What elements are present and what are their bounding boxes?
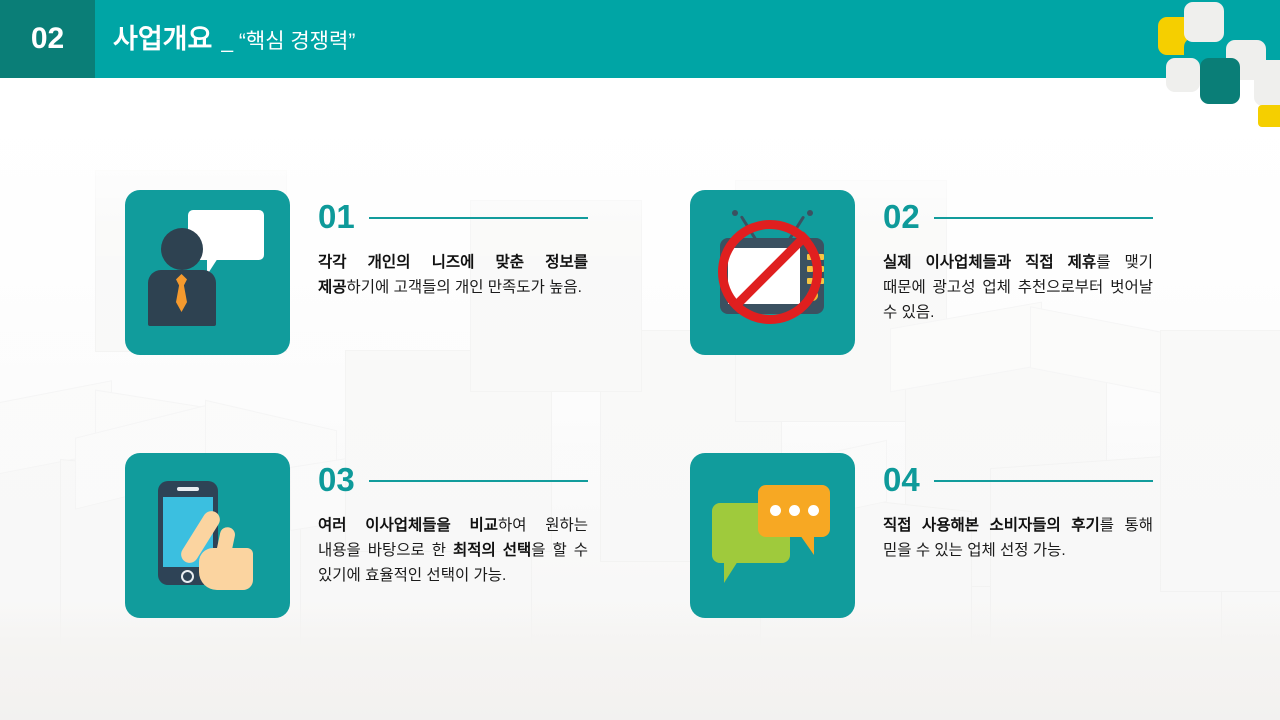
- smartphone-touch-icon: [125, 453, 290, 618]
- card-number: 02: [883, 200, 920, 233]
- card-04-text: 직접 사용해본 소비자들의 후기를 통해 믿을 수 있는 업체 선정 가능.: [883, 513, 1153, 563]
- deco-square-white-bottomright: [1254, 60, 1280, 106]
- card-number-rule: [369, 217, 588, 219]
- header-section-number: 02: [0, 0, 95, 78]
- card-02-number-row: 02: [883, 198, 1153, 234]
- card-02-body: 02 실제 이사업체들과 직접 제휴를 맺기 때문에 광고성 업체 추천으로부터…: [883, 198, 1153, 325]
- card-02-text: 실제 이사업체들과 직접 제휴를 맺기 때문에 광고성 업체 추천으로부터 벗어…: [883, 250, 1153, 325]
- card-03-body: 03 여러 이사업체들을 비교하여 원하는 내용을 바탕으로 한 최적의 선택을…: [318, 461, 588, 588]
- corner-decoration: [1150, 0, 1280, 130]
- page-title: 사업개요: [113, 26, 212, 53]
- card-number-rule: [369, 480, 588, 482]
- card-03-number-row: 03: [318, 461, 588, 497]
- chat-bubble-green-tail: [724, 561, 738, 583]
- card-03-text-bold-2: 최적의 선택: [453, 542, 531, 559]
- card-number-rule: [934, 217, 1153, 219]
- card-number: 01: [318, 200, 355, 233]
- header-title-group: 사업개요 _ “핵심 경쟁력”: [113, 0, 355, 78]
- chat-dot-1: [770, 505, 781, 516]
- deco-square-teal-dark-bottom: [1200, 58, 1240, 104]
- card-02-text-bold: 실제 이사업체들과 직접 제휴: [883, 254, 1096, 271]
- card-number-rule: [934, 480, 1153, 482]
- deco-square-yellow-bottom: [1258, 105, 1280, 127]
- phone-home-button: [181, 570, 194, 583]
- person-head: [161, 228, 203, 270]
- no-tv-advertising-icon: [690, 190, 855, 355]
- tv-antenna-tip-left: [732, 210, 738, 216]
- card-number: 03: [318, 463, 355, 496]
- card-01-text: 각각 개인의 니즈에 맞춘 정보를 제공하기에 고객들의 개인 만족도가 높음.: [318, 250, 588, 300]
- card-04-body: 04 직접 사용해본 소비자들의 후기를 통해 믿을 수 있는 업체 선정 가능…: [883, 461, 1153, 563]
- phone-speaker: [177, 487, 199, 491]
- chat-dot-2: [789, 505, 800, 516]
- header-number-text: 02: [31, 24, 64, 54]
- card-03-text-bold-1: 여러 이사업체들을 비교: [318, 517, 498, 534]
- person-speech-bubble-icon: [125, 190, 290, 355]
- chat-bubbles-review-icon: [690, 453, 855, 618]
- card-04-text-bold: 직접 사용해본 소비자들의 후기: [883, 517, 1100, 534]
- card-01-text-normal: 하기에 고객들의 개인 만족도가 높음.: [347, 279, 582, 296]
- card-number: 04: [883, 463, 920, 496]
- deco-square-white-topleft: [1184, 2, 1224, 42]
- header-bar: 02 사업개요 _ “핵심 경쟁력”: [0, 0, 1280, 78]
- slide: 02 사업개요 _ “핵심 경쟁력” 01: [0, 0, 1280, 720]
- tv-antenna-tip-right: [807, 210, 813, 216]
- hand-palm: [199, 548, 253, 590]
- card-03-text: 여러 이사업체들을 비교하여 원하는 내용을 바탕으로 한 최적의 선택을 할 …: [318, 513, 588, 588]
- deco-square-white-bottomleft: [1166, 58, 1200, 92]
- page-subtitle: _ “핵심 경쟁력”: [221, 31, 355, 52]
- card-04-number-row: 04: [883, 461, 1153, 497]
- chat-dot-3: [808, 505, 819, 516]
- chat-bubble-orange-tail: [800, 535, 814, 555]
- card-01-body: 01 각각 개인의 니즈에 맞춘 정보를 제공하기에 고객들의 개인 만족도가 …: [318, 198, 588, 300]
- deco-square-teal-right: [1226, 2, 1266, 42]
- card-01-number-row: 01: [318, 198, 588, 234]
